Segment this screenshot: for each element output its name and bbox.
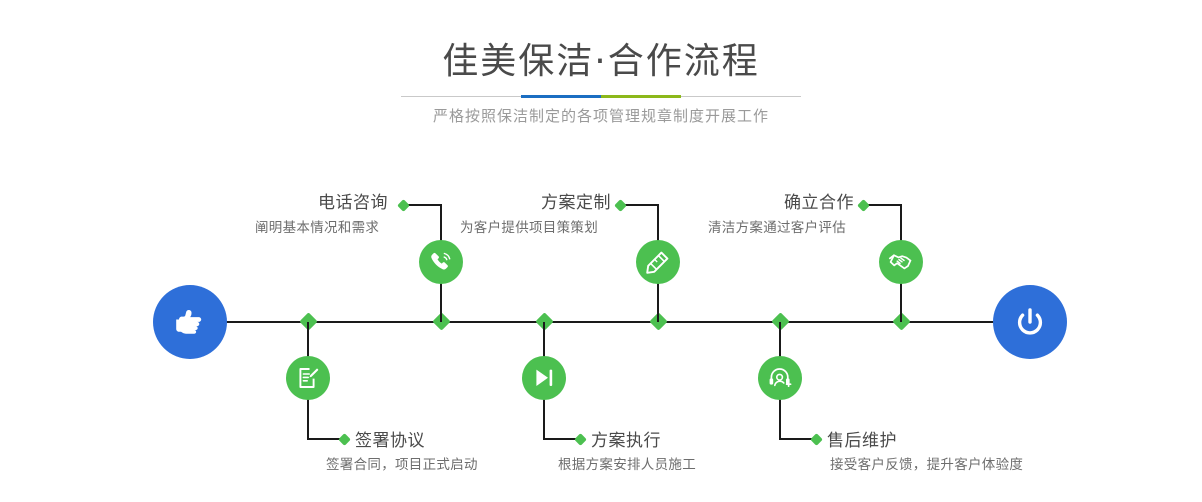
page-title: 佳美保洁·合作流程 <box>0 0 1202 80</box>
step-title: 方案执行 <box>591 426 661 451</box>
header: 佳美保洁·合作流程 <box>0 0 1202 80</box>
timeline-start-endpoint[interactable] <box>153 285 227 359</box>
step-title: 方案定制 <box>541 188 611 213</box>
connector-horizontal <box>406 204 442 206</box>
title-divider <box>401 95 801 99</box>
step-desc: 清洁方案通过客户评估 <box>708 216 846 236</box>
connector-diamond <box>397 199 410 212</box>
divider-blue-segment <box>521 95 601 98</box>
connector-diamond <box>614 199 627 212</box>
connector-diamond <box>338 433 351 446</box>
timeline-end-endpoint[interactable] <box>993 285 1067 359</box>
page-subtitle: 严格按照保洁制定的各项管理规章制度开展工作 <box>0 105 1202 126</box>
connector-diamond <box>574 433 587 446</box>
step-desc: 接受客户反馈，提升客户体验度 <box>830 453 1023 473</box>
pencil-ruler-icon <box>636 240 680 284</box>
connector-horizontal <box>623 204 659 206</box>
step-desc: 签署合同，项目正式启动 <box>326 453 478 473</box>
play-execute-icon <box>522 356 566 400</box>
document-edit-icon <box>286 356 330 400</box>
connector-diamond <box>810 433 823 446</box>
step-title: 售后维护 <box>827 426 897 451</box>
connector-horizontal <box>866 204 902 206</box>
power-icon <box>1010 302 1050 342</box>
divider-green-segment <box>601 95 681 98</box>
step-title: 电话咨询 <box>318 188 388 213</box>
step-desc: 根据方案安排人员施工 <box>558 453 696 473</box>
step-desc: 阐明基本情况和需求 <box>255 216 379 236</box>
handshake-icon <box>879 240 923 284</box>
flowchart-canvas: 佳美保洁·合作流程 严格按照保洁制定的各项管理规章制度开展工作 <box>0 0 1202 502</box>
step-title: 签署协议 <box>355 426 425 451</box>
connector-diamond <box>857 199 870 212</box>
headset-support-icon <box>758 356 802 400</box>
step-desc: 为客户提供项目策策划 <box>460 216 598 236</box>
phone-ring-icon <box>419 240 463 284</box>
step-title: 确立合作 <box>784 188 854 213</box>
pointing-hand-icon <box>170 302 210 342</box>
timeline-axis <box>215 321 1005 323</box>
